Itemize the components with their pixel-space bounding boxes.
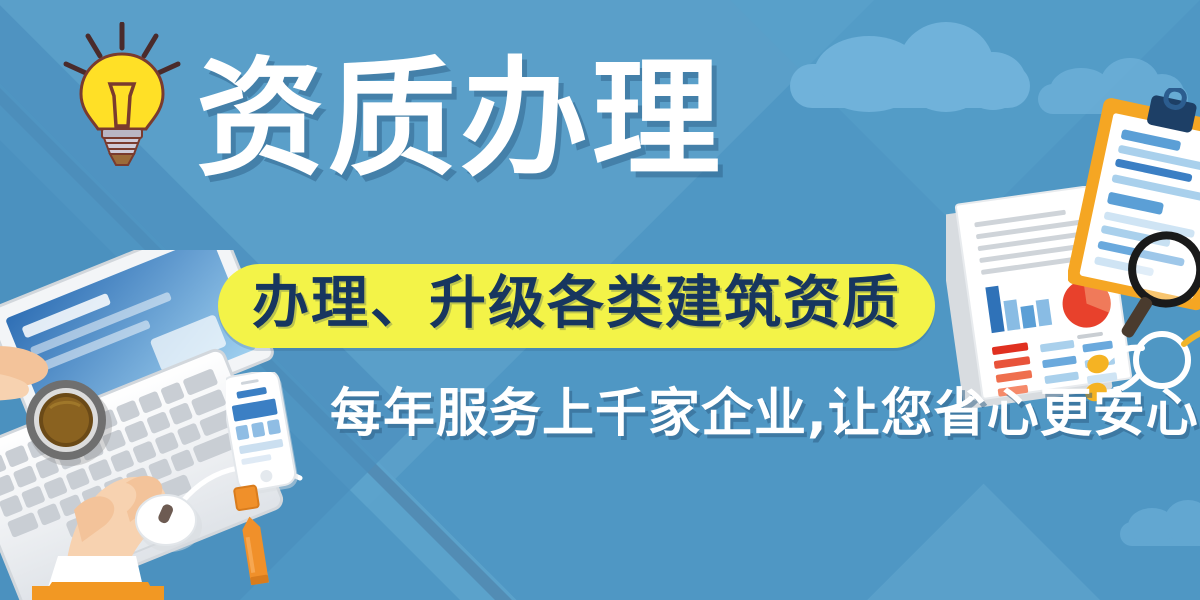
text-content: 资质办理 办理、升级各类建筑资质 每年服务上千家企业,让您省心更安心 — [0, 0, 1200, 600]
promo-banner: 资质办理 办理、升级各类建筑资质 每年服务上千家企业,让您省心更安心 — [0, 0, 1200, 600]
page-title: 资质办理 — [196, 55, 724, 186]
tagline: 每年服务上千家企业,让您省心更安心 — [330, 386, 1199, 443]
subtitle-pill-label: 办理、升级各类建筑资质 — [252, 272, 901, 336]
subtitle-pill: 办理、升级各类建筑资质 — [218, 264, 935, 348]
